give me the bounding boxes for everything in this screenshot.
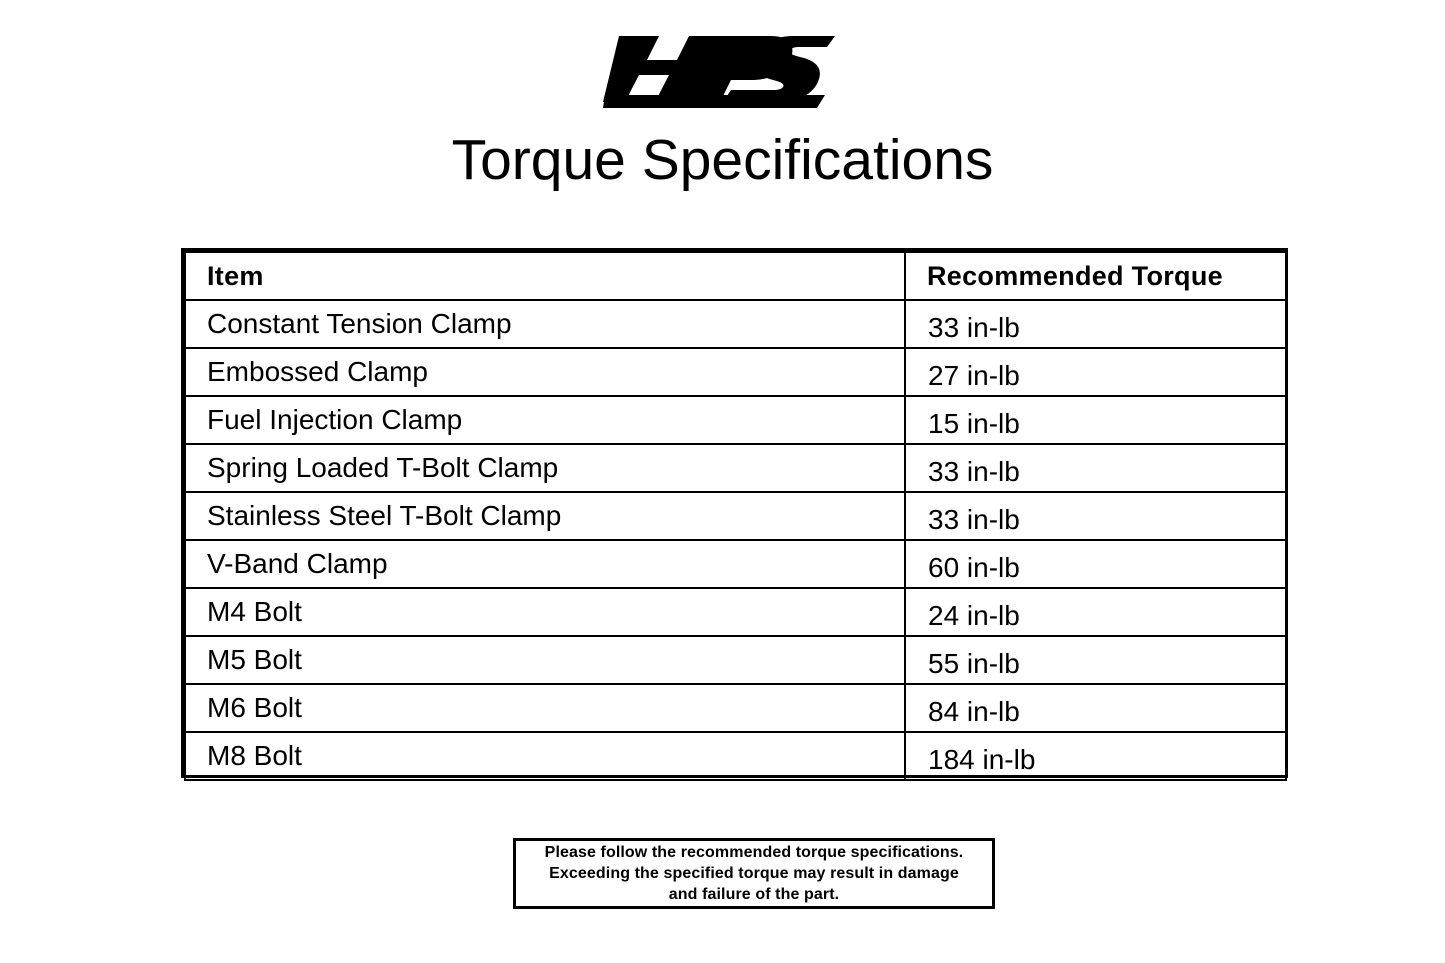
cell-torque: 55 in-lb [905, 636, 1286, 684]
table-row: M4 Bolt24 in-lb [185, 588, 1286, 636]
cell-item: M6 Bolt [185, 684, 905, 732]
footer-note-line: and failure of the part. [669, 884, 839, 905]
footer-note-line: Please follow the recommended torque spe… [545, 842, 964, 863]
column-header-torque: Recommended Torque [905, 252, 1286, 300]
cell-torque: 15 in-lb [905, 396, 1286, 444]
cell-item: M4 Bolt [185, 588, 905, 636]
cell-item: Constant Tension Clamp [185, 300, 905, 348]
cell-torque: 33 in-lb [905, 492, 1286, 540]
cell-item: Fuel Injection Clamp [185, 396, 905, 444]
table-row: V-Band Clamp60 in-lb [185, 540, 1286, 588]
cell-torque: 84 in-lb [905, 684, 1286, 732]
cell-item: Embossed Clamp [185, 348, 905, 396]
torque-specifications-table: Item Recommended Torque Constant Tension… [181, 248, 1288, 778]
cell-torque: 33 in-lb [905, 444, 1286, 492]
cell-item: V-Band Clamp [185, 540, 905, 588]
cell-item: Spring Loaded T-Bolt Clamp [185, 444, 905, 492]
cell-torque: 24 in-lb [905, 588, 1286, 636]
table-row: Constant Tension Clamp33 in-lb [185, 300, 1286, 348]
cell-torque: 33 in-lb [905, 300, 1286, 348]
footer-note-box: Please follow the recommended torque spe… [513, 838, 995, 909]
cell-torque: 27 in-lb [905, 348, 1286, 396]
table-row: Embossed Clamp27 in-lb [185, 348, 1286, 396]
table-row: M8 Bolt184 in-lb [185, 732, 1286, 780]
cell-torque: 184 in-lb [905, 732, 1286, 780]
footer-note-line: Exceeding the specified torque may resul… [549, 863, 959, 884]
logo-container [0, 30, 1445, 116]
table-row: Fuel Injection Clamp15 in-lb [185, 396, 1286, 444]
table-row: M5 Bolt55 in-lb [185, 636, 1286, 684]
cell-item: M5 Bolt [185, 636, 905, 684]
cell-torque: 60 in-lb [905, 540, 1286, 588]
cell-item: M8 Bolt [185, 732, 905, 780]
cell-item: Stainless Steel T-Bolt Clamp [185, 492, 905, 540]
table-header-row: Item Recommended Torque [185, 252, 1286, 300]
table-row: M6 Bolt84 in-lb [185, 684, 1286, 732]
hps-logo [603, 30, 843, 108]
page-title: Torque Specifications [0, 129, 1445, 192]
table-row: Stainless Steel T-Bolt Clamp33 in-lb [185, 492, 1286, 540]
column-header-item: Item [185, 252, 905, 300]
table-row: Spring Loaded T-Bolt Clamp33 in-lb [185, 444, 1286, 492]
